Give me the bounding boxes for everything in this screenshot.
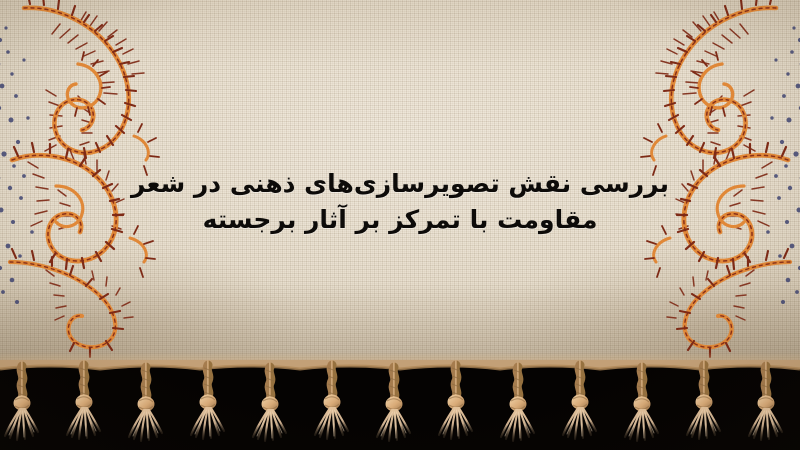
title-line-2: مقاومت با تمرکز بر آثار برجسته [0, 202, 800, 238]
knotted-tassel-fringe [0, 360, 800, 450]
boteh-swirl-upper [24, 0, 144, 158]
page-title: بررسی نقش تصویرسازی‌های ذهنی در شعر مقاو… [0, 166, 800, 237]
boteh-tail-lower [10, 249, 133, 357]
boteh-tail-lower [667, 249, 790, 357]
title-slide: بررسی نقش تصویرسازی‌های ذهنی در شعر مقاو… [0, 0, 800, 450]
boteh-swirl-upper [656, 0, 776, 158]
title-line-1: بررسی نقش تصویرسازی‌های ذهنی در شعر [0, 166, 800, 202]
